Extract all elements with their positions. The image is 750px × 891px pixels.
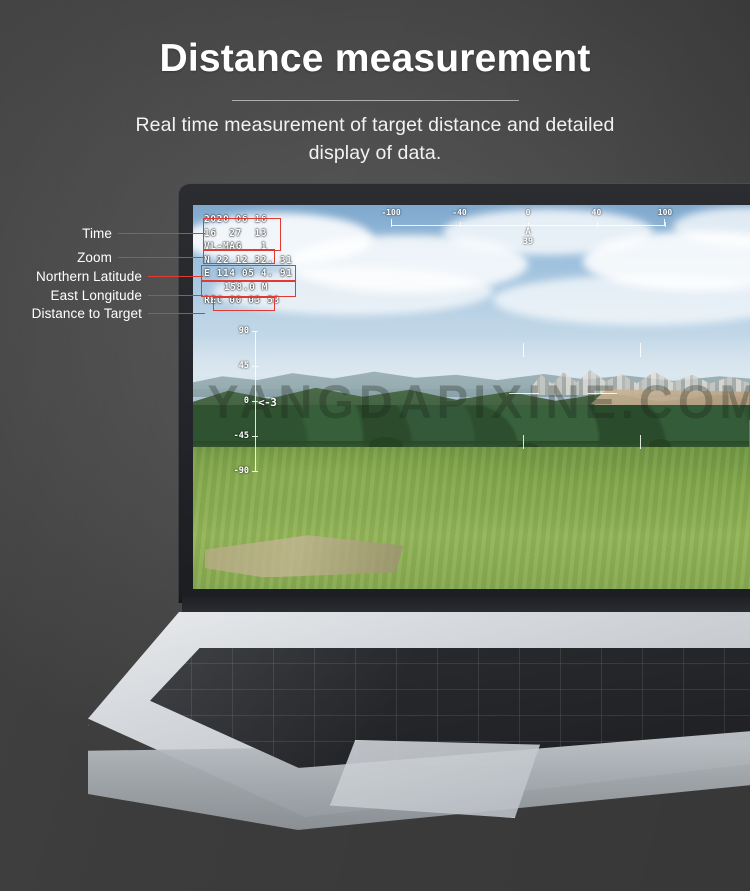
callout-distance-to-target: Distance to Target — [0, 309, 300, 323]
callout-zoom-leader-line — [118, 257, 205, 258]
trackpad[interactable] — [330, 740, 540, 818]
laptop-mockup: YANGDAPIXINE.COM 2020 06 16 16 27 13 VL-… — [0, 0, 750, 891]
callout-northern-latitude-label: Northern Latitude — [36, 269, 142, 284]
callout-distance-to-target-highlight-box — [213, 297, 275, 311]
callout-zoom-highlight-box — [203, 249, 275, 264]
callout-east-longitude-leader-line — [148, 295, 203, 296]
callout-zoom-label: Zoom — [77, 250, 112, 265]
page-background: Distance measurement Real time measureme… — [0, 0, 750, 891]
callout-distance-to-target-leader-line — [148, 313, 205, 314]
callout-time-label: Time — [82, 226, 112, 241]
callout-distance-to-target-label: Distance to Target — [32, 306, 142, 321]
callout-east-longitude-highlight-box — [201, 281, 296, 297]
callout-time-leader-line — [118, 233, 205, 234]
callout-east-longitude-label: East Longitude — [51, 288, 142, 303]
callout-northern-latitude-leader-line — [148, 276, 203, 277]
callout-time-highlight-box — [203, 218, 281, 251]
callout-northern-latitude-highlight-box — [201, 265, 296, 281]
laptop-base — [0, 0, 750, 891]
